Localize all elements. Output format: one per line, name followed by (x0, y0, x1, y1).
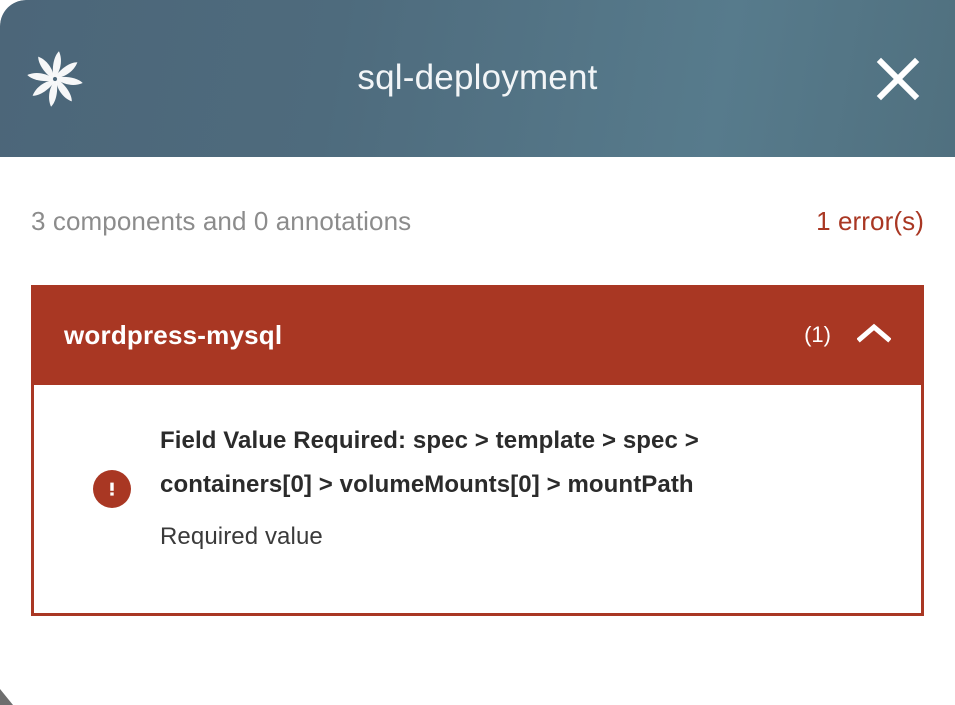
close-icon (875, 56, 921, 102)
accordion-header-right: (1) (804, 322, 891, 348)
page-title: sql-deployment (0, 50, 955, 106)
issue-detail: Required value (160, 515, 861, 559)
accordion-header-wordpress-mysql[interactable]: wordpress-mysql (1) (31, 285, 924, 385)
modal-header: sql-deployment (0, 0, 955, 157)
issue-icon-wrap (64, 470, 160, 508)
close-button[interactable] (872, 53, 924, 105)
accordion-title: wordpress-mysql (64, 320, 282, 351)
chevron-up-icon[interactable] (857, 323, 891, 348)
background-corner-sliver (0, 689, 14, 705)
issue-text: Field Value Required: spec > template > … (160, 419, 891, 559)
issue-heading: Field Value Required: spec > template > … (160, 419, 760, 507)
resource-accordion: wordpress-mysql (1) (31, 285, 924, 616)
validation-modal: sql-deployment 3 components and 0 annota… (0, 0, 955, 705)
error-count-label: 1 error(s) (816, 206, 924, 237)
accordion-issue-count: (1) (804, 322, 831, 348)
summary-row: 3 components and 0 annotations 1 error(s… (0, 157, 955, 285)
error-exclamation-icon (93, 470, 131, 508)
list-item[interactable]: Field Value Required: spec > template > … (64, 419, 891, 559)
component-count-label: 3 components and 0 annotations (31, 206, 411, 237)
accordion-body: Field Value Required: spec > template > … (31, 385, 924, 616)
